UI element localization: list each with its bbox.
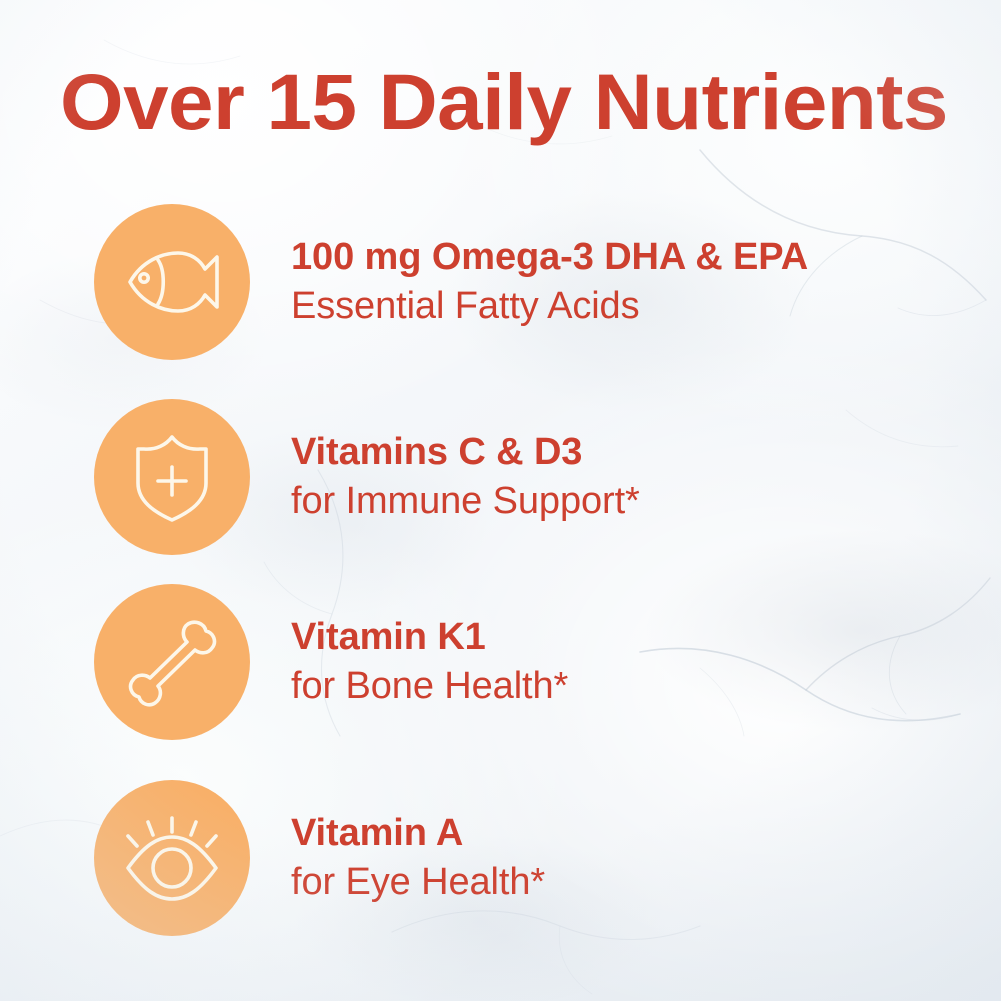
shield-plus-icon [122,427,222,527]
fish-icon-badge [94,204,250,360]
benefit-subline: for Eye Health* [291,858,545,907]
benefit-row-omega-3: 100 mg Omega-3 DHA & EPA Essential Fatty… [0,204,1001,360]
benefit-row-vitamin-k1: Vitamin K1 for Bone Health* [0,584,1001,740]
bone-icon-badge [94,584,250,740]
benefit-row-vitamins-c-d3: Vitamins C & D3 for Immune Support* [0,399,1001,555]
benefit-headline: Vitamin A [291,809,545,858]
benefit-copy-vitamin-a: Vitamin A for Eye Health* [291,780,545,936]
benefit-subline: for Bone Health* [291,662,568,711]
benefit-row-vitamin-a: Vitamin A for Eye Health* [0,780,1001,936]
benefit-headline: Vitamins C & D3 [291,428,640,477]
benefit-list: 100 mg Omega-3 DHA & EPA Essential Fatty… [0,0,1001,1001]
benefit-copy-omega-3: 100 mg Omega-3 DHA & EPA Essential Fatty… [291,204,808,360]
fish-icon [122,232,222,332]
nutrient-benefits-infographic: Over 15 Daily Nutrients 100 mg Omega-3 D… [0,0,1001,1001]
benefit-headline: Vitamin K1 [291,613,568,662]
benefit-headline: 100 mg Omega-3 DHA & EPA [291,233,808,282]
eye-icon [122,808,222,908]
bone-icon [122,612,222,712]
benefit-subline: for Immune Support* [291,477,640,526]
benefit-subline: Essential Fatty Acids [291,282,808,331]
benefit-copy-vitamin-k1: Vitamin K1 for Bone Health* [291,584,568,740]
eye-icon-badge [94,780,250,936]
benefit-copy-vitamins-c-d3: Vitamins C & D3 for Immune Support* [291,399,640,555]
shield-plus-icon-badge [94,399,250,555]
